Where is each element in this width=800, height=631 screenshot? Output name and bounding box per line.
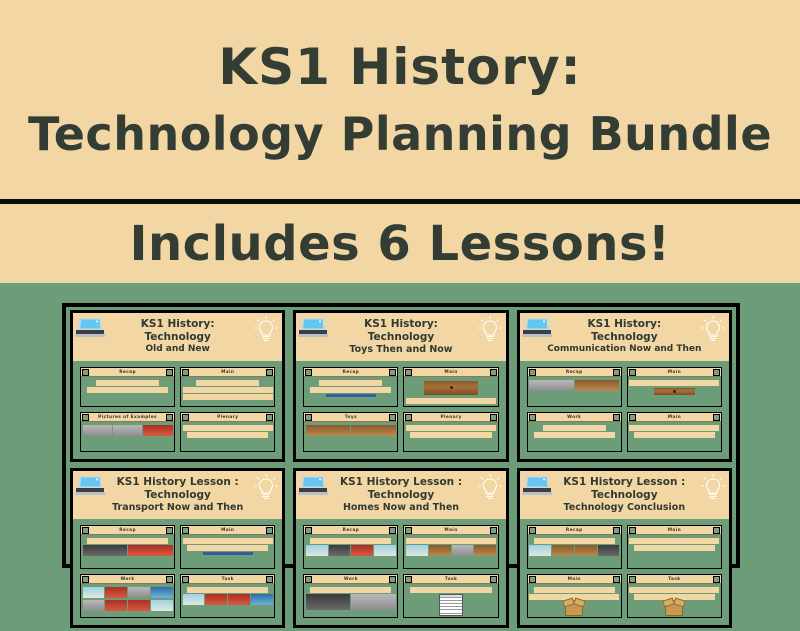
subslide-thumbnail[interactable]: Work [303,574,398,618]
laptop-icon [298,316,328,340]
corner-marker-icon [305,527,312,534]
subslide-thumbnail[interactable]: Recap [303,525,398,569]
subslide-thumbnail[interactable]: Plenary [403,412,498,452]
slide-heading-2: Technology [591,331,657,344]
subslide-label: Main [668,528,681,533]
subslide-thumbnail[interactable]: Pictures of Examples [80,412,175,452]
laptop-icon [522,474,552,498]
subslide-thumbnail[interactable]: Toys [303,412,398,452]
corner-marker-icon [490,527,497,534]
slide-header: KS1 History: Technology Toys Then and No… [296,313,505,361]
corner-marker-icon [713,576,720,583]
poster-root: KS1 History: Technology Planning Bundle … [0,0,800,600]
slide-heading-3: Communication Now and Then [547,344,701,356]
corner-marker-icon [490,576,497,583]
subslide-thumbnail[interactable]: Main [403,525,498,569]
subslide-grid: Recap Main Work [296,519,505,625]
laptop-icon [75,316,105,340]
corner-marker-icon [389,369,396,376]
slide-heading-2: Technology [368,331,434,344]
subslide-thumbnail[interactable]: Task [403,574,498,618]
slide-heading-3: Homes Now and Then [343,502,459,514]
subslide-thumbnail[interactable]: Work [527,412,622,452]
lightbulb-icon [700,315,726,345]
slide-heading-1: KS1 History Lesson : [117,476,239,489]
corner-marker-icon [82,576,89,583]
slide-header: KS1 History: Technology Communication No… [520,313,729,361]
lesson-cell-2: KS1 History: Technology Toys Then and No… [289,307,512,465]
lesson-cell-4: KS1 History Lesson : Technology Transpor… [66,465,289,631]
lightbulb-icon [253,315,279,345]
corner-marker-icon [166,527,173,534]
corner-marker-icon [266,414,273,421]
corner-marker-icon [82,369,89,376]
slide-heading-1: KS1 History: [141,318,215,331]
subslide-thumbnail[interactable]: Task [180,574,275,618]
corner-marker-icon [629,414,636,421]
page-title-line1: KS1 History: [218,41,581,94]
laptop-icon [75,474,105,498]
subslide-label: Task [222,577,234,582]
corner-marker-icon [405,527,412,534]
slide-header: KS1 History Lesson : Technology Homes No… [296,471,505,519]
lightbulb-icon [253,473,279,503]
title-band: KS1 History: Technology Planning Bundle [0,0,800,199]
corner-marker-icon [389,576,396,583]
slide-heading-1: KS1 History: [587,318,661,331]
subslide-thumbnail[interactable]: Main [627,412,722,452]
corner-marker-icon [266,576,273,583]
corner-marker-icon [490,369,497,376]
lightbulb-icon [477,473,503,503]
lightbulb-icon [700,473,726,503]
slide-heading-3: Transport Now and Then [112,502,243,514]
corner-marker-icon [405,369,412,376]
corner-marker-icon [182,369,189,376]
subslide-label: Main [668,370,681,375]
corner-marker-icon [613,527,620,534]
slide-heading-3: Technology Conclusion [564,502,686,514]
slide-heading-3: Toys Then and Now [349,344,452,356]
corner-marker-icon [305,369,312,376]
subslide-thumbnail[interactable]: Main [627,525,722,569]
corner-marker-icon [529,414,536,421]
corner-marker-icon [490,414,497,421]
lesson-slide-2[interactable]: KS1 History: Technology Toys Then and No… [293,310,508,462]
corner-marker-icon [305,414,312,421]
corner-marker-icon [713,414,720,421]
subslide-label: Recap [566,370,583,375]
corner-marker-icon [305,576,312,583]
subslide-thumbnail[interactable]: Main [180,525,275,569]
subslide-label: Toys [345,415,357,420]
subslide-grid: Recap Main Work [520,361,729,459]
corner-marker-icon [613,576,620,583]
subslide-label: Recap [343,528,360,533]
corner-marker-icon [389,414,396,421]
subslide-label: Recap [566,528,583,533]
subslide-label: Main [221,528,234,533]
slide-heading-1: KS1 History: [364,318,438,331]
corner-marker-icon [166,369,173,376]
subslide-label: Main [444,370,457,375]
laptop-icon [522,316,552,340]
subslide-label: Main [444,528,457,533]
lesson-slide-4[interactable]: KS1 History Lesson : Technology Transpor… [70,468,285,628]
lesson-count-subtitle: Includes 6 Lessons! [130,216,671,272]
subslide-grid: Recap Main Pictures of Examples [73,361,282,459]
subslide-label: Pictures of Examples [98,415,157,420]
subslide-grid: Recap Main Toys [296,361,505,459]
laptop-icon [298,474,328,498]
corner-marker-icon [629,527,636,534]
subslide-thumbnail[interactable]: Main [180,367,275,407]
page-title-line2: Technology Planning Bundle [28,110,772,158]
subslide-thumbnail[interactable]: Recap [80,367,175,407]
corner-marker-icon [389,527,396,534]
corner-marker-icon [266,527,273,534]
subslide-label: Main [668,415,681,420]
subslide-thumbnail[interactable]: Task [627,574,722,618]
corner-marker-icon [529,527,536,534]
corner-marker-icon [166,576,173,583]
corner-marker-icon [182,576,189,583]
subslide-label: Task [445,577,457,582]
lesson-slide-6[interactable]: KS1 History Lesson : Technology Technolo… [517,468,732,628]
lightbulb-icon [477,315,503,345]
subslide-thumbnail[interactable]: Recap [303,367,398,407]
subslide-thumbnail[interactable]: Work [80,574,175,618]
corner-marker-icon [529,576,536,583]
lesson-slide-3[interactable]: KS1 History: Technology Communication No… [517,310,732,462]
slide-heading-2: Technology [591,489,657,502]
subslide-grid: Recap Main Main [520,519,729,625]
corner-marker-icon [266,369,273,376]
subslide-label: Work [567,415,581,420]
lesson-thumbnail-grid: KS1 History: Technology Old and New [62,303,740,568]
slide-heading-3: Old and New [146,344,210,356]
subslide-thumbnail[interactable]: Recap [527,525,622,569]
slide-header: KS1 History Lesson : Technology Technolo… [520,471,729,519]
slide-header: KS1 History Lesson : Technology Transpor… [73,471,282,519]
lesson-cell-3: KS1 History: Technology Communication No… [513,307,736,465]
corner-marker-icon [182,414,189,421]
subslide-label: Task [668,577,680,582]
slide-heading-2: Technology [368,489,434,502]
lesson-cell-6: KS1 History Lesson : Technology Technolo… [513,465,736,631]
lesson-cell-1: KS1 History: Technology Old and New [66,307,289,465]
subslide-label: Work [344,577,358,582]
corner-marker-icon [529,369,536,376]
subslide-label: Recap [119,370,136,375]
subtitle-band: Includes 6 Lessons! [0,204,800,283]
subslide-label: Plenary [217,415,238,420]
subslide-label: Work [121,577,135,582]
subslide-label: Plenary [440,415,461,420]
subslide-thumbnail[interactable]: Main [627,367,722,407]
subslide-thumbnail[interactable]: Main [403,367,498,407]
lesson-slide-5[interactable]: KS1 History Lesson : Technology Homes No… [293,468,508,628]
corner-marker-icon [613,369,620,376]
slide-heading-1: KS1 History Lesson : [563,476,685,489]
corner-marker-icon [713,369,720,376]
corner-marker-icon [405,576,412,583]
corner-marker-icon [713,527,720,534]
subslide-label: Main [221,370,234,375]
subslide-label: Recap [343,370,360,375]
slide-heading-2: Technology [144,331,210,344]
corner-marker-icon [629,369,636,376]
slide-heading-1: KS1 History Lesson : [340,476,462,489]
corner-marker-icon [182,527,189,534]
corner-marker-icon [405,414,412,421]
subslide-label: Main [568,577,581,582]
slide-heading-2: Technology [144,489,210,502]
corner-marker-icon [82,527,89,534]
lesson-cell-5: KS1 History Lesson : Technology Homes No… [289,465,512,631]
lesson-slide-1[interactable]: KS1 History: Technology Old and New [70,310,285,462]
subslide-thumbnail[interactable]: Plenary [180,412,275,452]
corner-marker-icon [613,414,620,421]
subslide-thumbnail[interactable]: Recap [80,525,175,569]
subslide-grid: Recap Main Work [73,519,282,625]
corner-marker-icon [82,414,89,421]
corner-marker-icon [629,576,636,583]
subslide-label: Recap [119,528,136,533]
corner-marker-icon [166,414,173,421]
subslide-thumbnail[interactable]: Recap [527,367,622,407]
slide-header: KS1 History: Technology Old and New [73,313,282,361]
subslide-thumbnail[interactable]: Main [527,574,622,618]
